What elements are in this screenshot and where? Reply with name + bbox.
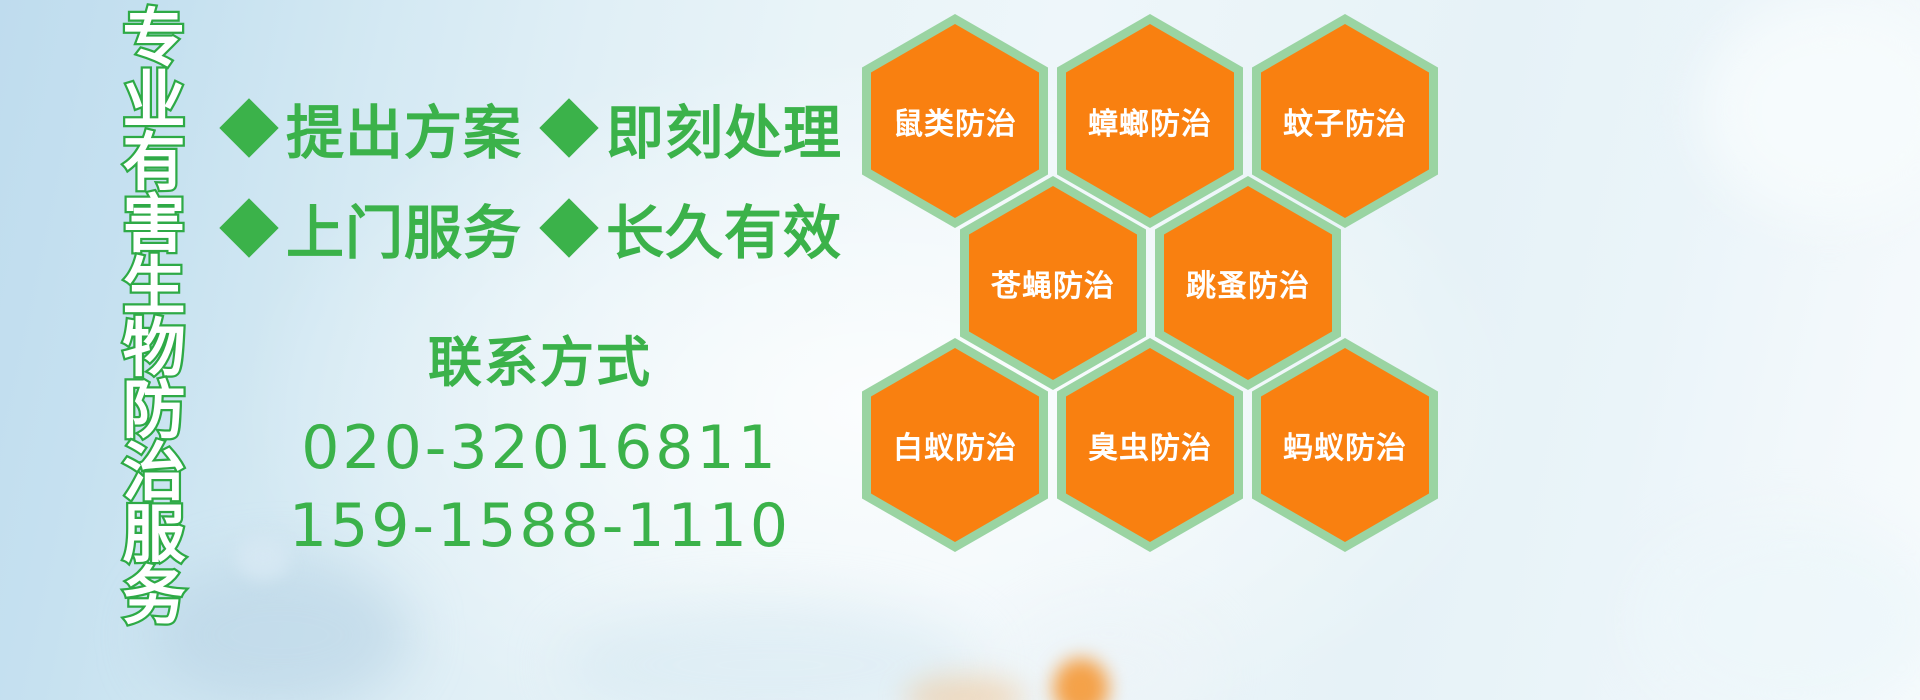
service-hexagon-label: 蚊子防治 bbox=[1283, 99, 1407, 143]
vertical-headline-char: 务 bbox=[123, 566, 186, 628]
vertical-headline: 专 业 有 害 生 物 防 治 服 务 bbox=[108, 8, 200, 568]
feature-item-immediate-handling: 即刻处理 bbox=[548, 86, 842, 170]
background-blur-shape bbox=[560, 600, 980, 700]
feature-label: 提出方案 bbox=[286, 86, 522, 170]
background-blur-shape bbox=[150, 560, 410, 700]
feature-row: 提出方案 即刻处理 bbox=[228, 78, 868, 178]
diamond-icon bbox=[219, 98, 278, 157]
vertical-headline-char: 生 bbox=[123, 256, 186, 318]
feature-label: 即刻处理 bbox=[606, 86, 842, 170]
diamond-icon bbox=[539, 198, 598, 257]
feature-row: 上门服务 长久有效 bbox=[228, 178, 868, 278]
contact-phone-landline[interactable]: 020-32016811 bbox=[280, 409, 800, 487]
diamond-icon bbox=[219, 198, 278, 257]
background-blur-shape bbox=[1700, 0, 1920, 220]
diamond-icon bbox=[539, 98, 598, 157]
service-hexagon-cluster: 鼠类防治 蟑螂防治 蚊子防治 苍蝇防治 跳蚤防治 白蚁防治 臭虫防治 bbox=[862, 8, 1442, 568]
vertical-headline-char: 专 bbox=[123, 8, 186, 70]
feature-label: 长久有效 bbox=[606, 186, 842, 270]
vertical-headline-char: 害 bbox=[123, 194, 186, 256]
vertical-headline-char: 业 bbox=[123, 70, 186, 132]
background-blur-shape bbox=[1010, 610, 1210, 700]
service-hexagon-label: 苍蝇防治 bbox=[991, 261, 1115, 305]
background-blur-shape bbox=[905, 676, 1025, 700]
pest-control-banner: 专 业 有 害 生 物 防 治 服 务 提出方案 即刻处理 上门服务 bbox=[0, 0, 1920, 700]
vertical-headline-char: 物 bbox=[123, 318, 186, 380]
feature-label: 上门服务 bbox=[286, 186, 522, 270]
service-hexagon-label: 臭虫防治 bbox=[1088, 423, 1212, 467]
service-hexagon-label: 蚂蚁防治 bbox=[1283, 423, 1407, 467]
service-hexagon-label: 跳蚤防治 bbox=[1186, 261, 1310, 305]
feature-list: 提出方案 即刻处理 上门服务 长久有效 bbox=[228, 78, 868, 278]
feature-item-propose-plan: 提出方案 bbox=[228, 86, 522, 170]
service-hexagon-label: 白蚁防治 bbox=[893, 423, 1017, 467]
background-blur-shape bbox=[1640, 520, 1920, 700]
vertical-headline-char: 有 bbox=[123, 132, 186, 194]
vertical-headline-char: 防 bbox=[123, 380, 186, 442]
feature-item-long-lasting-effect: 长久有效 bbox=[548, 186, 842, 270]
background-blur-shape bbox=[1053, 658, 1109, 700]
contact-title: 联系方式 bbox=[280, 318, 800, 397]
service-hexagon-label: 蟑螂防治 bbox=[1088, 99, 1212, 143]
vertical-headline-char: 治 bbox=[123, 442, 186, 504]
contact-block: 联系方式 020-32016811 159-1588-1110 bbox=[280, 318, 800, 565]
vertical-headline-char: 服 bbox=[123, 504, 186, 566]
service-hexagon-label: 鼠类防治 bbox=[893, 99, 1017, 143]
feature-item-door-to-door-service: 上门服务 bbox=[228, 186, 522, 270]
contact-phone-mobile[interactable]: 159-1588-1110 bbox=[280, 487, 800, 565]
